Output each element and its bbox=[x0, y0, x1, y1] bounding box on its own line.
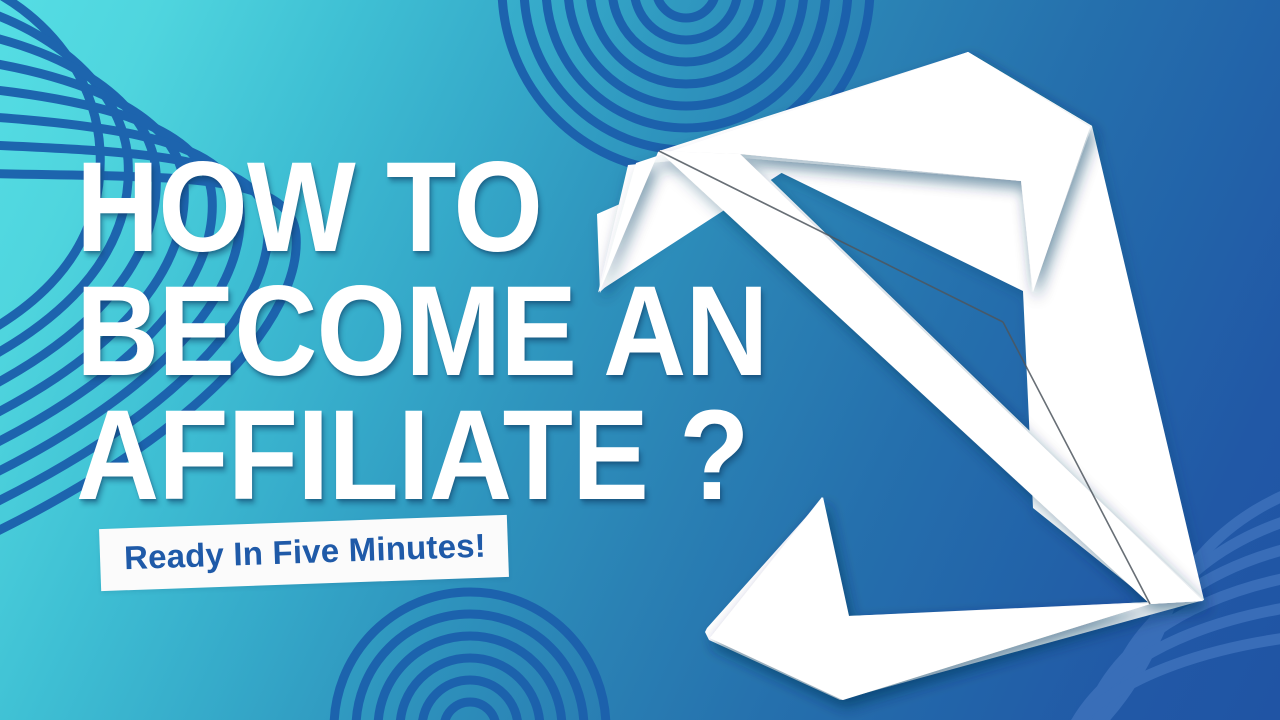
headline: HOW TO BECOME AN AFFILIATE ? bbox=[76, 146, 845, 518]
subtitle-text: Ready In Five Minutes! bbox=[123, 527, 486, 578]
thumbnail-canvas: HOW TO BECOME AN AFFILIATE ? Ready In Fi… bbox=[0, 0, 1280, 720]
headline-line-2: BECOME AN bbox=[76, 270, 768, 394]
headline-line-1: HOW TO bbox=[76, 146, 768, 270]
arrow-bottom-piece bbox=[710, 497, 1203, 700]
headline-line-3: AFFILIATE ? bbox=[76, 394, 768, 518]
